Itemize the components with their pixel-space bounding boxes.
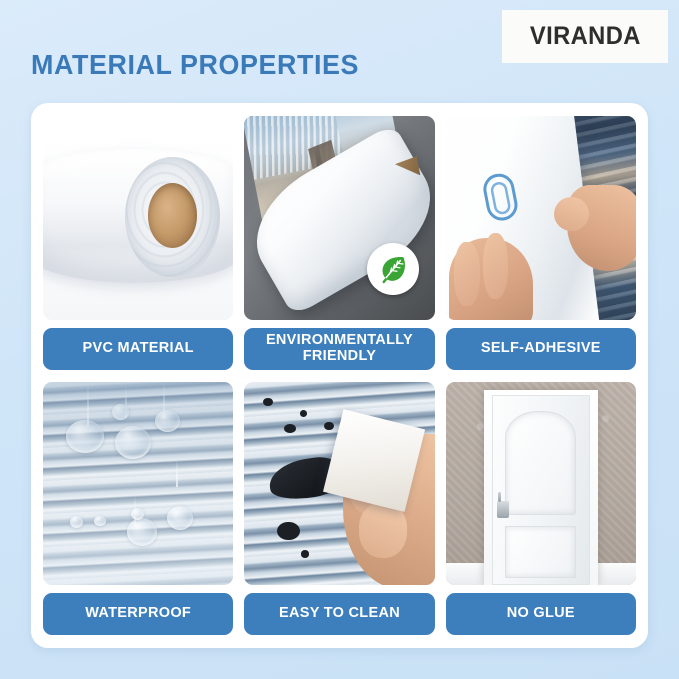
water-droplet (131, 508, 144, 520)
door-panel-top (505, 411, 576, 514)
water-droplet (155, 410, 180, 432)
water-trail (176, 459, 178, 487)
water-trail (87, 382, 89, 427)
feature-label-waterproof: WATERPROOF (43, 593, 233, 635)
page-title: MATERIAL PROPERTIES (31, 49, 359, 81)
feature-label-pvc-material: PVC MATERIAL (43, 328, 233, 370)
water-droplet (66, 420, 104, 453)
water-droplet (94, 516, 105, 526)
stain-spot (263, 398, 273, 406)
stain-spot (324, 422, 334, 430)
feature-label-self-adhesive: SELF-ADHESIVE (446, 328, 636, 370)
door-handle (497, 501, 510, 518)
eco-badge (367, 243, 419, 295)
self-adhesive-image (446, 116, 636, 320)
water-droplet (167, 506, 194, 530)
waterproof-image (43, 382, 233, 586)
features-grid: PVC MATERIAL (43, 116, 636, 635)
leaf-icon (376, 252, 410, 286)
paperclip-icon (479, 169, 522, 225)
water-trail (134, 495, 136, 526)
water-droplet (115, 426, 151, 459)
stain-spot (300, 410, 308, 417)
feature-label-no-glue: NO GLUE (446, 593, 636, 635)
pvc-roll-image (43, 116, 233, 320)
feature-tile-pvc-material: PVC MATERIAL (43, 116, 233, 370)
stain-spot (277, 522, 300, 540)
feature-tile-environmentally-friendly: ENVIRONMENTALLY FRIENDLY (244, 116, 434, 370)
feature-tile-no-glue: NO GLUE (446, 382, 636, 636)
no-glue-image (446, 382, 636, 586)
stain-spot (301, 550, 309, 557)
features-panel: PVC MATERIAL (31, 103, 648, 648)
door-frame (484, 390, 598, 585)
feature-label-environmentally-friendly: ENVIRONMENTALLY FRIENDLY (244, 328, 434, 370)
door-slab (492, 395, 590, 584)
water-droplet (70, 516, 83, 528)
brand-logo-text: VIRANDA (530, 22, 641, 51)
page-header: MATERIAL PROPERTIES VIRANDA (0, 0, 679, 103)
feature-label-easy-to-clean: EASY TO CLEAN (244, 593, 434, 635)
water-trail (163, 382, 165, 419)
water-trail (125, 386, 127, 419)
feature-tile-easy-to-clean: EASY TO CLEAN (244, 382, 434, 636)
stain-spot (284, 424, 295, 433)
pvc-roll-core (148, 183, 197, 248)
water-droplet (112, 404, 129, 420)
door-panel-bottom (505, 526, 576, 578)
brand-logo: VIRANDA (502, 10, 668, 63)
easy-to-clean-image (244, 382, 434, 586)
feature-tile-waterproof: WATERPROOF (43, 382, 233, 636)
feature-tile-self-adhesive: SELF-ADHESIVE (446, 116, 636, 370)
eco-wallpaper-image (244, 116, 434, 320)
water-droplet (127, 518, 157, 546)
